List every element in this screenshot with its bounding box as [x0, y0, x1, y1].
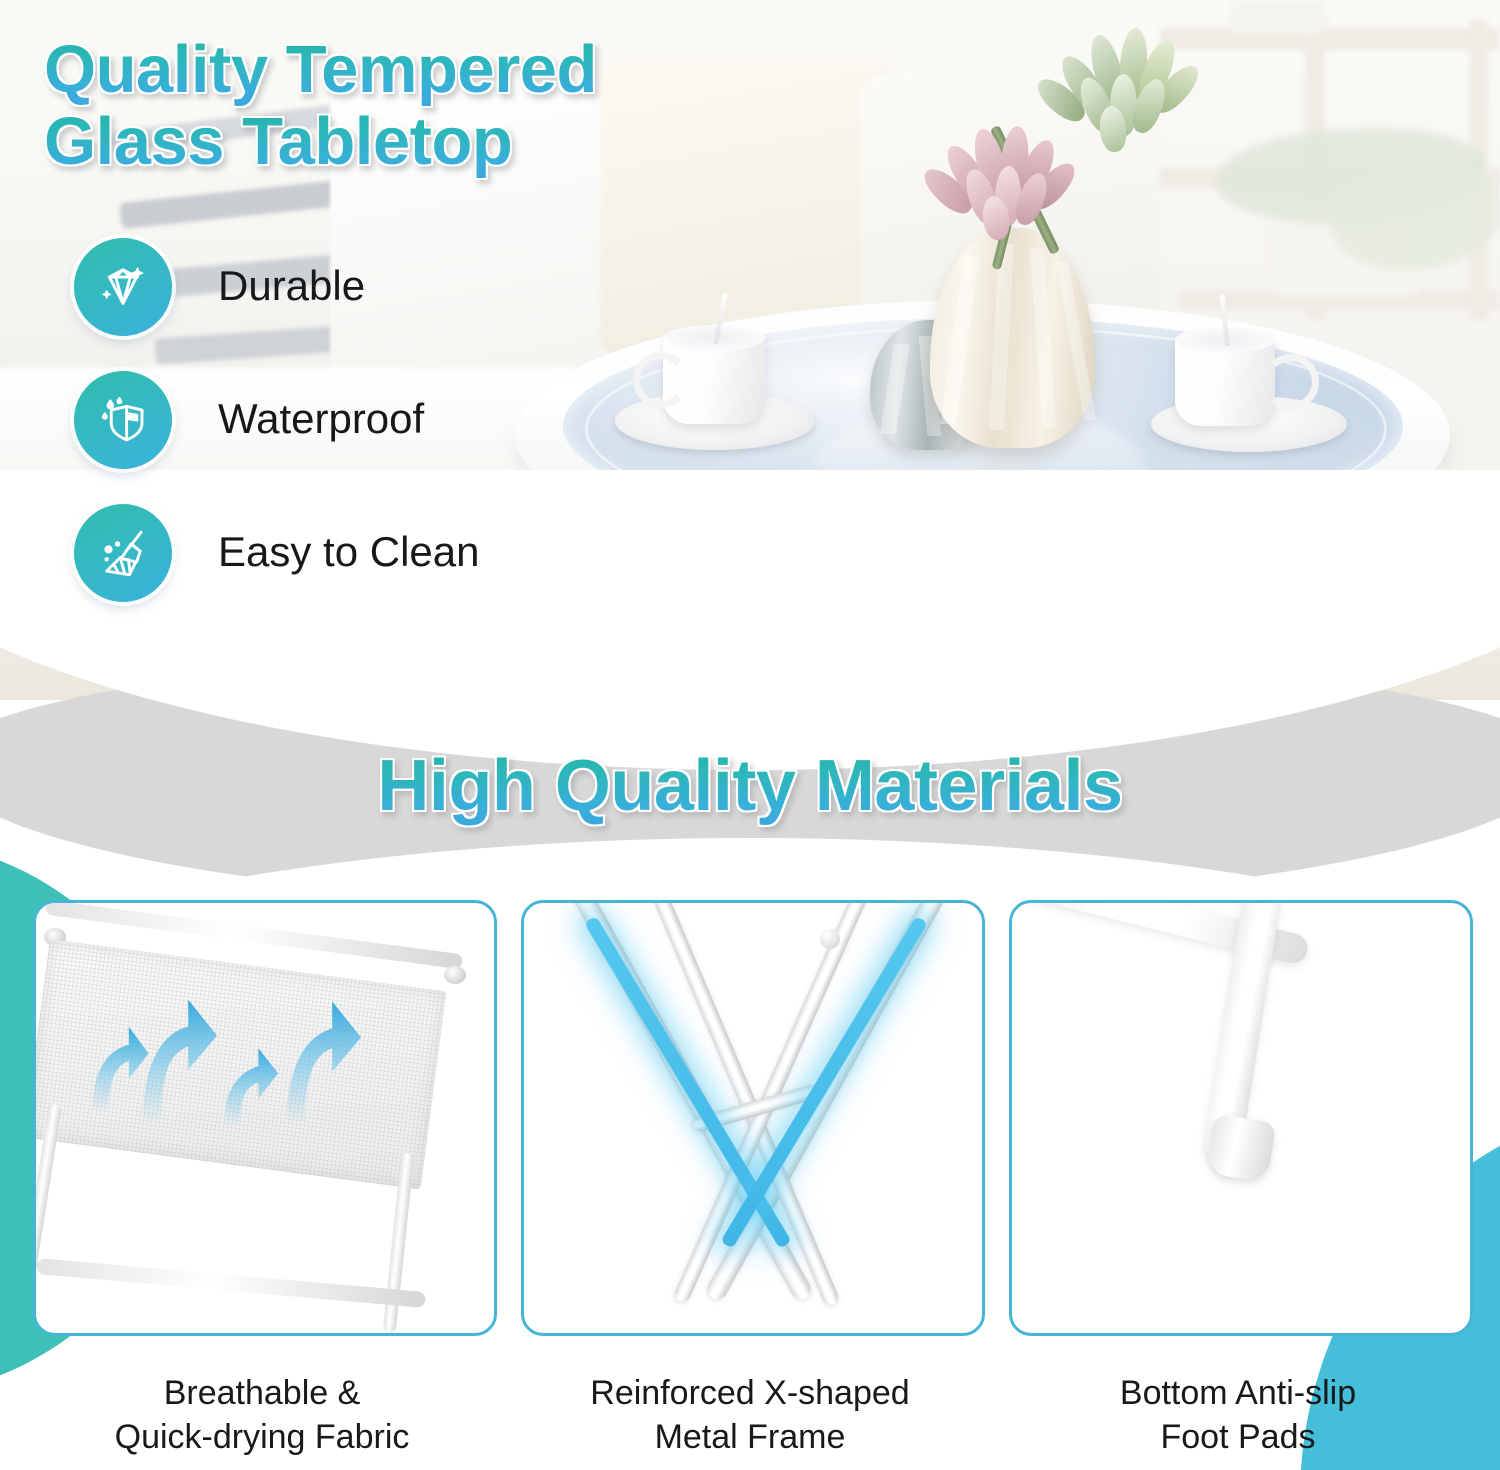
section-title-text: High Quality Materials: [377, 746, 1122, 826]
caption-line-1: Breathable &: [33, 1372, 491, 1416]
airflow-arrows: [52, 933, 472, 1203]
feature-durable: Durable: [74, 238, 594, 371]
material-card-breathable-fabric: [33, 900, 497, 1336]
broom-icon: [74, 504, 172, 602]
caption-line-2: Quick-drying Fabric: [33, 1416, 491, 1460]
material-card-x-frame: [521, 900, 985, 1336]
caption-line-2: Foot Pads: [1009, 1416, 1467, 1460]
page-title: Quality Tempered Glass Tabletop: [44, 34, 804, 179]
product-infographic: Quality Tempered Glass Tabletop Durable: [0, 0, 1500, 1470]
caption-line-1: Reinforced X-shaped: [521, 1372, 979, 1416]
feature-label-durable: Durable: [218, 262, 365, 310]
feature-label-easy-to-clean: Easy to Clean: [218, 528, 479, 576]
caption-breathable-fabric: Breathable & Quick-drying Fabric: [33, 1372, 491, 1459]
feature-label-waterproof: Waterproof: [218, 395, 424, 443]
diamond-icon: [74, 238, 172, 336]
coffee-cup-right-handle: [1263, 354, 1319, 410]
feature-list: Durable Waterproof: [74, 238, 594, 637]
caption-line-2: Metal Frame: [521, 1416, 979, 1460]
material-card-foot-pads: [1009, 900, 1473, 1336]
green-succulent: [1040, 18, 1200, 154]
headline-line-2: Glass Tabletop: [44, 106, 804, 178]
frame-pivot-top: [820, 929, 840, 949]
wall-shelf-top: [1160, 28, 1500, 50]
headline-line-1: Quality Tempered: [44, 34, 804, 106]
caption-line-1: Bottom Anti-slip: [1009, 1372, 1467, 1416]
anti-slip-foot-pad: [1206, 1114, 1277, 1183]
feature-waterproof: Waterproof: [74, 371, 594, 504]
feature-easy-to-clean: Easy to Clean: [74, 504, 594, 637]
shelf-pot-top: [1230, 0, 1326, 34]
section-title: High Quality Materials: [0, 745, 1500, 827]
water-shield-icon: [74, 371, 172, 469]
caption-foot-pads: Bottom Anti-slip Foot Pads: [1009, 1372, 1467, 1459]
chair-seat-bar: [36, 1258, 426, 1308]
coffee-cup-left-handle: [633, 352, 689, 408]
caption-x-frame: Reinforced X-shaped Metal Frame: [521, 1372, 979, 1459]
